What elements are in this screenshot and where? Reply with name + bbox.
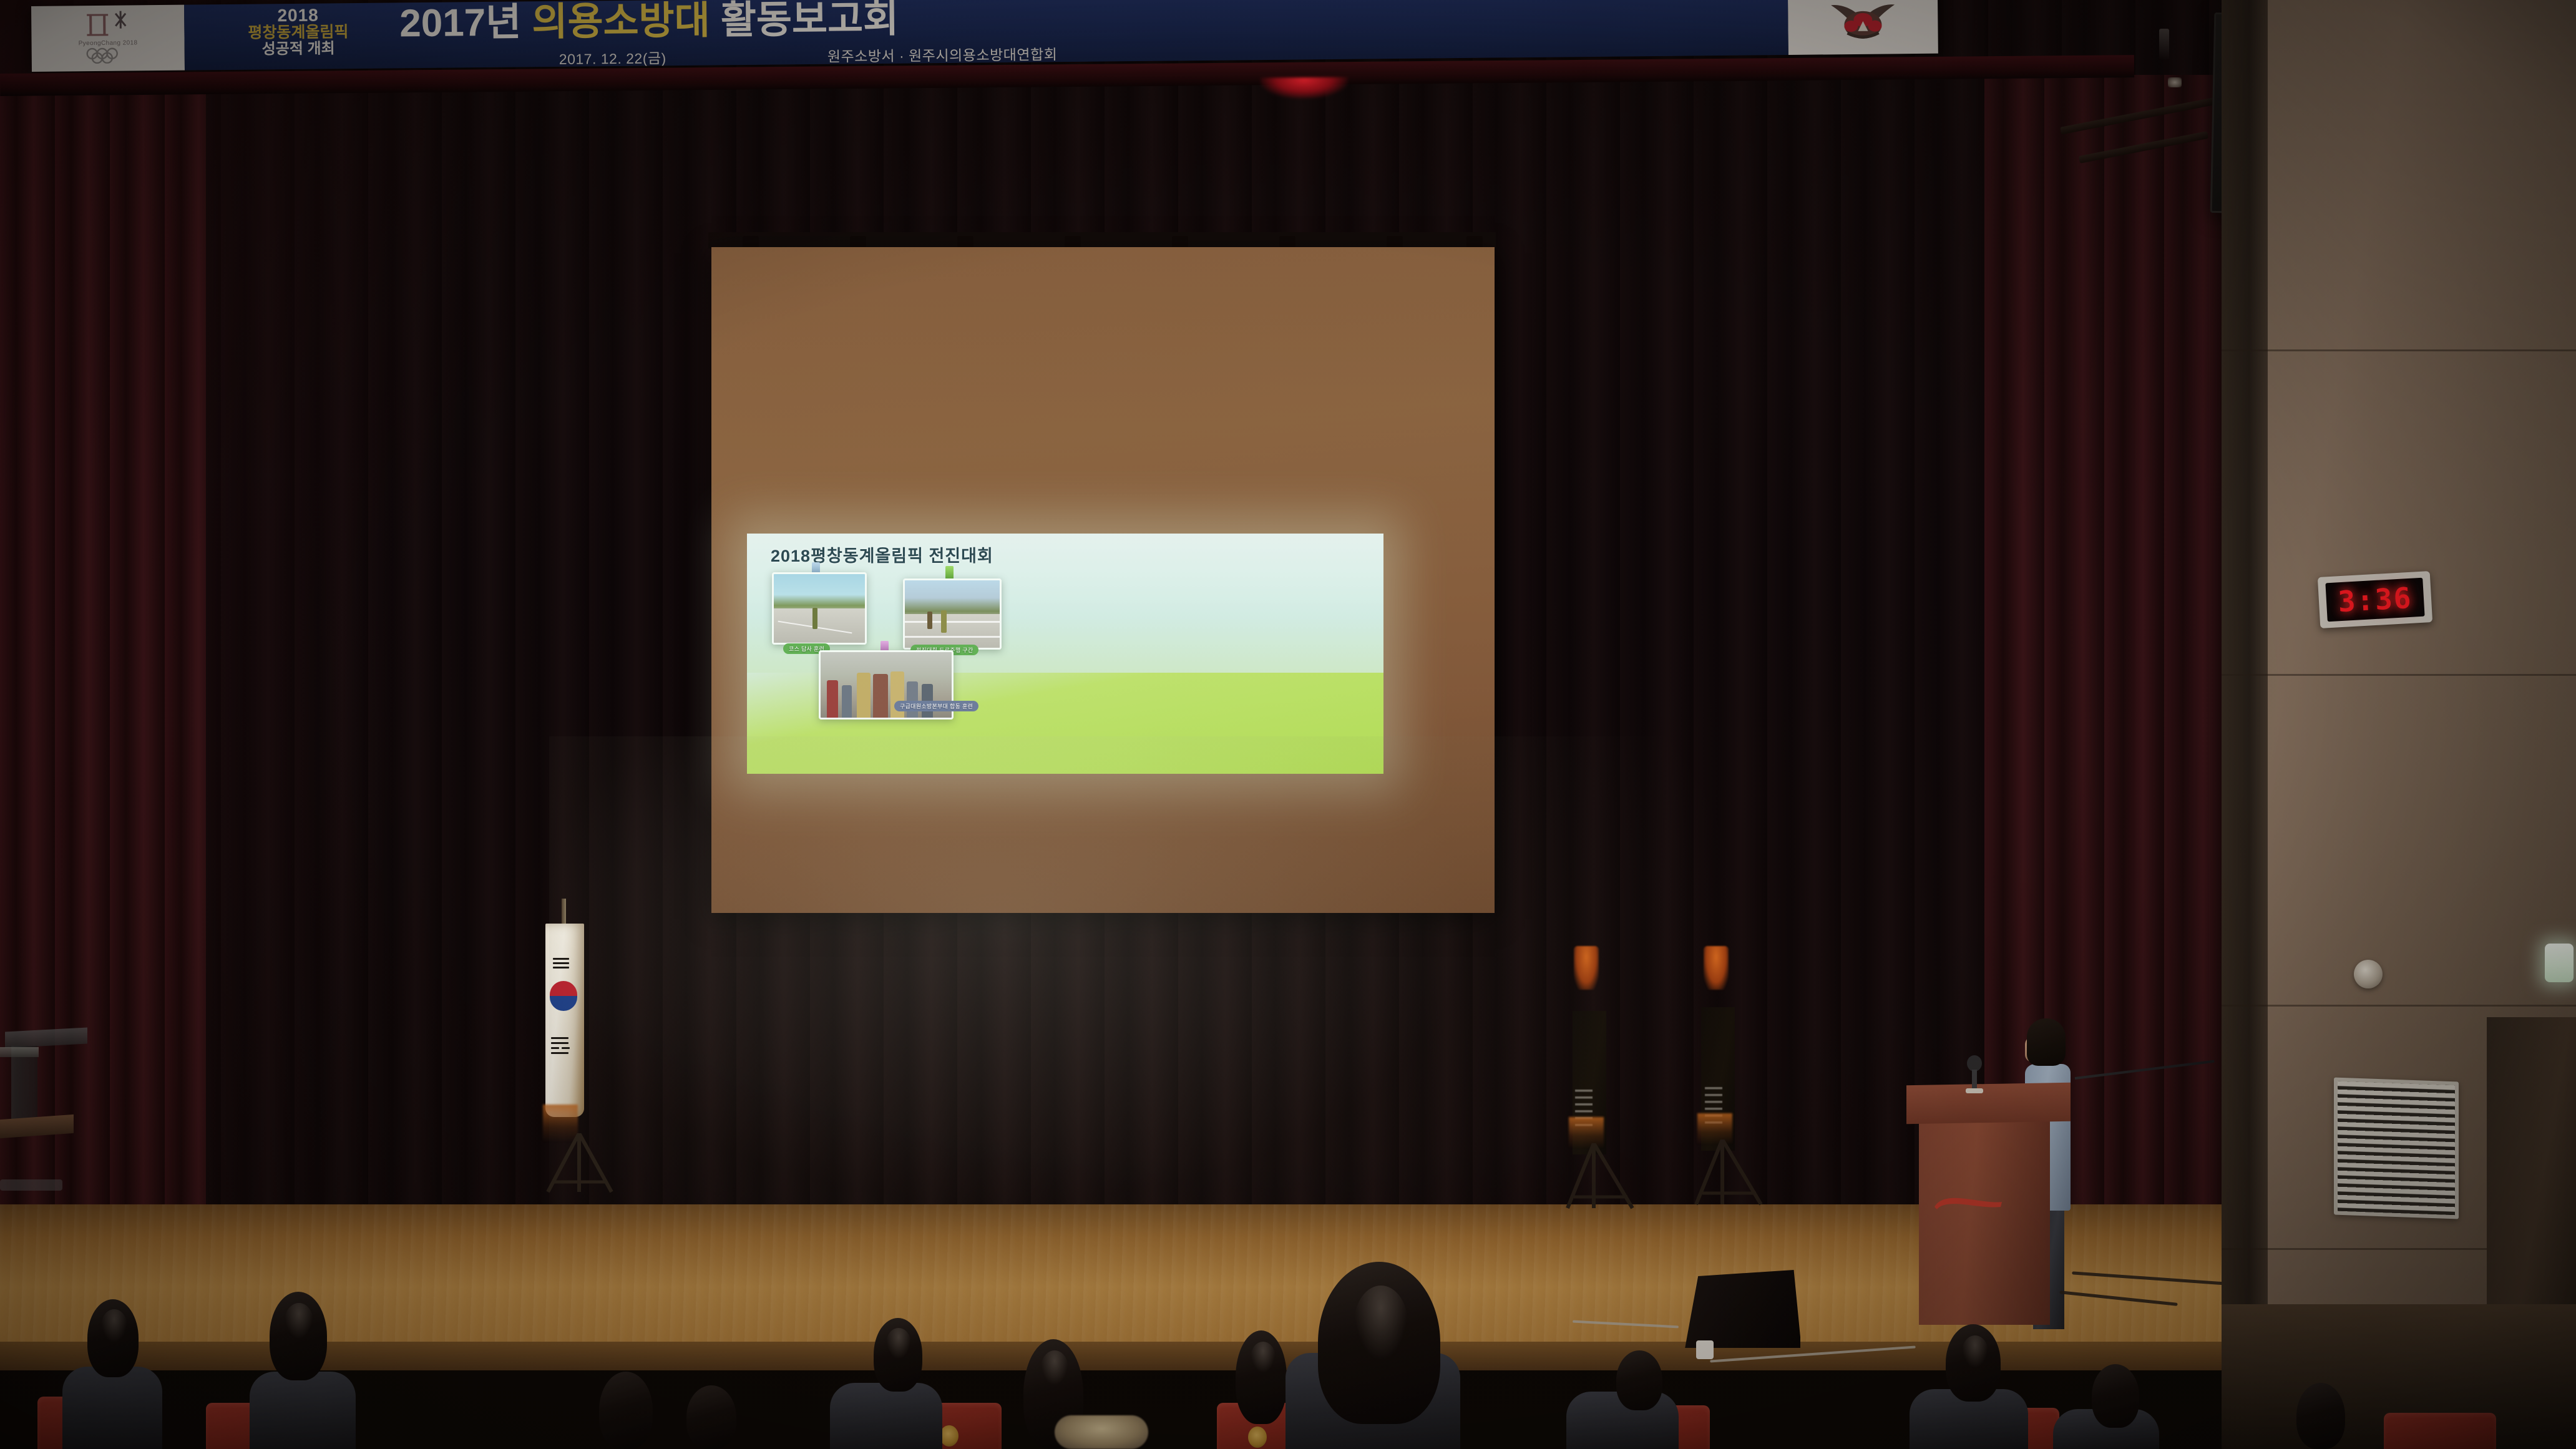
photo-road	[774, 608, 865, 643]
audience-head	[1616, 1350, 1662, 1410]
monitor-power-plug	[1696, 1340, 1714, 1359]
audience-head	[2296, 1383, 2345, 1449]
olympic-logo-panel: PyeongChang 2018	[31, 5, 185, 72]
wall-clock: 3:36	[2318, 571, 2432, 628]
audience-head	[2092, 1364, 2139, 1428]
slide-title: 2018평창동계올림픽 전진대회	[771, 542, 993, 567]
head-highlight	[101, 1309, 127, 1343]
flag-tassel	[1574, 946, 1599, 990]
banner-title-org: 의용소방대	[532, 0, 710, 44]
wall-air-vent	[2334, 1078, 2459, 1219]
clock-time-text: 3:36	[2337, 583, 2413, 617]
fire-service-emblem-panel	[1788, 0, 1938, 55]
valance-red-light	[1261, 77, 1348, 99]
flag-tassel	[1704, 946, 1729, 990]
banner-title-year: 2017년	[399, 1, 522, 45]
audience-shoulders	[830, 1383, 942, 1449]
slide-pin-icon	[945, 566, 954, 580]
screen-mounting-rail	[708, 232, 1496, 248]
pyeongchang-wordmark: PyeongChang 2018	[79, 39, 138, 47]
podium-microphone	[1958, 1055, 1991, 1093]
stage-floor	[0, 1204, 2222, 1354]
trigram-bar	[551, 1047, 559, 1049]
banner-olympic-slogan: 2018 평창동계올림픽 성공적 개최	[209, 6, 388, 58]
audience-head	[599, 1372, 653, 1449]
wall-panel-seam	[2222, 674, 2576, 676]
pyeongchang-mark-icon	[79, 9, 137, 39]
office-chair-base	[0, 1179, 62, 1191]
trigram-bar	[551, 1052, 568, 1054]
wall-panel-seam	[2222, 1005, 2576, 1007]
office-chair-column	[11, 1046, 37, 1121]
fur-collar	[1055, 1415, 1148, 1449]
audience-head	[686, 1385, 736, 1449]
trigram-bar	[553, 962, 569, 964]
podium-body	[1919, 1119, 2050, 1325]
fire-service-eagle-emblem-icon	[1816, 0, 1910, 45]
seat-medallion-icon	[1248, 1427, 1267, 1448]
vent-louvers	[2338, 1081, 2455, 1216]
photo-runner	[941, 610, 947, 633]
wall-corner-column	[2222, 0, 2268, 1449]
slide-photo-course-training	[772, 572, 867, 645]
banner-olympic-year: 2018	[209, 6, 387, 26]
banner-date: 2017. 12. 22(금)	[559, 46, 666, 69]
photo-road	[905, 614, 1000, 648]
trigram-bar	[562, 1047, 570, 1049]
photo-person	[907, 681, 918, 718]
photo-person	[842, 685, 852, 718]
slide-photo-road-section	[903, 578, 1002, 650]
side-table	[0, 1047, 39, 1057]
trigram-bar	[553, 958, 569, 960]
wall-recess	[2487, 1017, 2576, 1304]
banner-olympic-name: 평창동계올림픽	[209, 24, 387, 42]
wall-panel-seam	[2222, 349, 2576, 351]
head-highlight	[1041, 1350, 1068, 1385]
wall-light-fixture-icon	[2354, 960, 2383, 988]
slide-caption: 구급대원소방본부대 합동 훈련	[894, 701, 978, 711]
photo-person	[827, 680, 838, 718]
head-highlight	[1354, 1286, 1408, 1360]
audience-shoulders	[250, 1372, 356, 1449]
photo-person	[873, 674, 888, 718]
photo-runner	[812, 608, 817, 629]
light-beam	[2159, 29, 2169, 60]
photo-firefighter	[857, 673, 871, 718]
presenter-head	[2027, 1018, 2066, 1066]
head-highlight	[886, 1328, 911, 1359]
taeguk-blue-half	[550, 996, 577, 1011]
banner-title-event: 활동보고회	[721, 0, 899, 42]
olympic-rings-icon	[83, 47, 133, 67]
taegukgi-flag	[545, 924, 584, 1117]
road-marking	[905, 636, 1000, 638]
seat-medallion-icon	[940, 1425, 959, 1447]
road-marking	[905, 621, 1000, 623]
audience-seat	[2384, 1413, 2496, 1449]
trigram-bar	[551, 1042, 568, 1044]
banner-olympic-wish: 성공적 개최	[210, 40, 388, 57]
auditorium-photo: PyeongChang 2018 2018 평창동계올림픽 성공적 개최 201…	[0, 0, 2576, 1449]
trigram-bar	[553, 967, 569, 968]
trigram-bar	[551, 1037, 568, 1039]
clock-display: 3:36	[2325, 578, 2424, 622]
head-highlight	[1962, 1335, 1988, 1368]
head-highlight	[1251, 1342, 1276, 1373]
head-highlight	[285, 1303, 313, 1339]
photo-runner	[927, 612, 932, 629]
emergency-exit-light-icon	[2545, 944, 2574, 982]
banner-title: 2017년 의용소방대 활동보고회	[399, 0, 899, 44]
stage-front-lip	[0, 1342, 2222, 1370]
curtain-right-wing	[1984, 75, 2234, 1248]
audience-shoulders	[62, 1367, 162, 1449]
podium-logo-swoosh-icon	[1933, 1197, 2003, 1211]
projected-slide: 2018평창동계올림픽 전진대회 코스 답사 훈련 전진대회 도로주행 구간	[747, 534, 1383, 774]
taeguk-red-half	[550, 981, 577, 996]
stage-lamp	[2168, 77, 2182, 87]
